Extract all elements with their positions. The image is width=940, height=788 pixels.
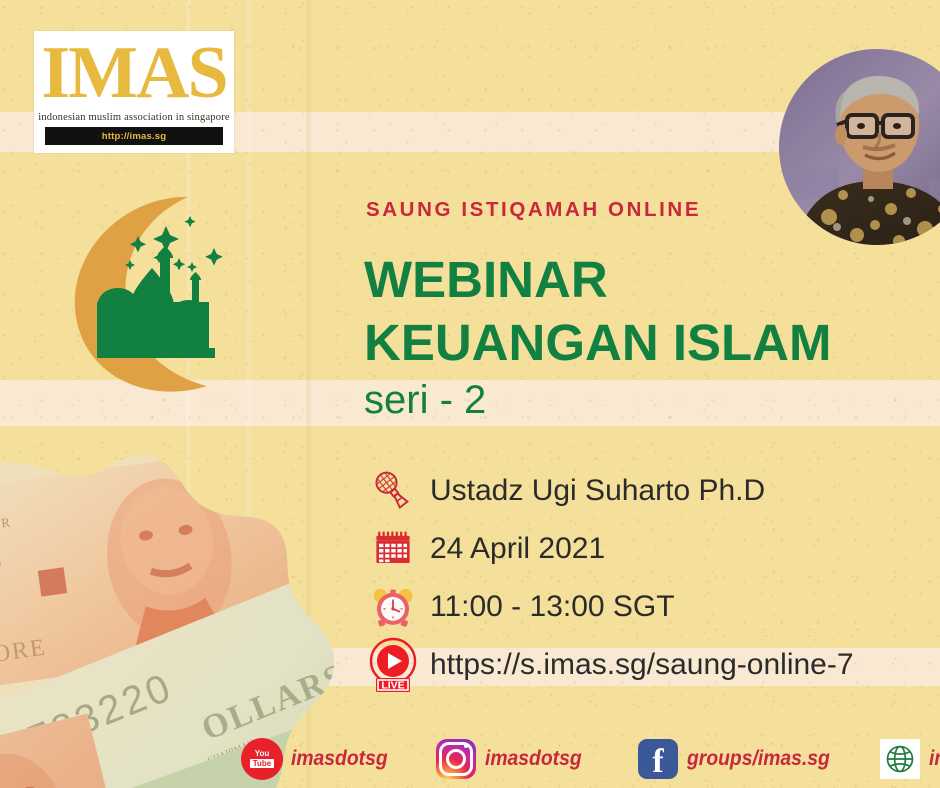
title-line-2: KEUANGAN ISLAM <box>364 311 924 374</box>
social-item-facebook[interactable]: f groups/imas.sg <box>636 737 842 781</box>
social-item-website[interactable]: imas.sg <box>878 737 940 781</box>
facebook-icon[interactable]: f <box>636 737 680 781</box>
imas-wordmark: IMAS <box>41 35 226 111</box>
imas-logo: IMAS indonesian muslim association in si… <box>34 31 234 153</box>
youtube-live-icon[interactable]: LIVE <box>364 639 422 691</box>
instagram-icon[interactable] <box>434 737 478 781</box>
series-subtitle: seri - 2 <box>364 378 486 423</box>
social-label-facebook[interactable]: groups/imas.sg <box>687 747 830 771</box>
youtube-you-label: You <box>255 750 270 758</box>
imas-url-bar: http://imas.sg <box>45 127 223 145</box>
detail-row-time: 11:00 - 13:00 SGT <box>364 578 924 636</box>
event-time: 11:00 - 13:00 SGT <box>422 590 675 624</box>
detail-row-link[interactable]: LIVE https://s.imas.sg/saung-online-7 <box>364 636 924 694</box>
imas-url: http://imas.sg <box>102 131 167 142</box>
youtube-tube-label: Tube <box>250 759 275 768</box>
social-label-youtube[interactable]: imasdotsg <box>291 747 388 771</box>
kicker-text: SAUNG ISTIQAMAH ONLINE <box>366 198 701 222</box>
speaker-name: Ustadz Ugi Suharto Ph.D <box>422 474 765 508</box>
microphone-icon <box>364 465 422 517</box>
live-badge-label: LIVE <box>381 680 404 692</box>
crescent-mosque-icon <box>34 190 270 404</box>
youtube-icon[interactable]: You Tube <box>240 737 284 781</box>
calendar-icon <box>364 523 422 575</box>
social-item-instagram[interactable]: imasdotsg <box>434 737 590 781</box>
alarm-clock-icon <box>364 581 422 633</box>
event-details: Ustadz Ugi Suharto Ph.D <box>364 462 924 694</box>
speaker-portrait <box>779 49 940 245</box>
webinar-poster: AL TENDER LARS Y AUTHORITY GAPORE GAPORE… <box>0 0 940 788</box>
event-date: 24 April 2021 <box>422 532 605 566</box>
detail-row-speaker: Ustadz Ugi Suharto Ph.D <box>364 462 924 520</box>
event-link[interactable]: https://s.imas.sg/saung-online-7 <box>422 648 854 682</box>
social-label-website[interactable]: imas.sg <box>929 747 940 771</box>
detail-row-date: 24 April 2021 <box>364 520 924 578</box>
title-line-1: WEBINAR <box>364 251 608 308</box>
social-bar: You Tube imasdotsg imasdotsg f groups/im… <box>240 730 940 788</box>
social-item-youtube[interactable]: You Tube imasdotsg <box>240 737 396 781</box>
social-label-instagram[interactable]: imasdotsg <box>485 747 582 771</box>
page-title: WEBINAR KEUANGAN ISLAM <box>364 248 924 374</box>
globe-icon[interactable] <box>878 737 922 781</box>
